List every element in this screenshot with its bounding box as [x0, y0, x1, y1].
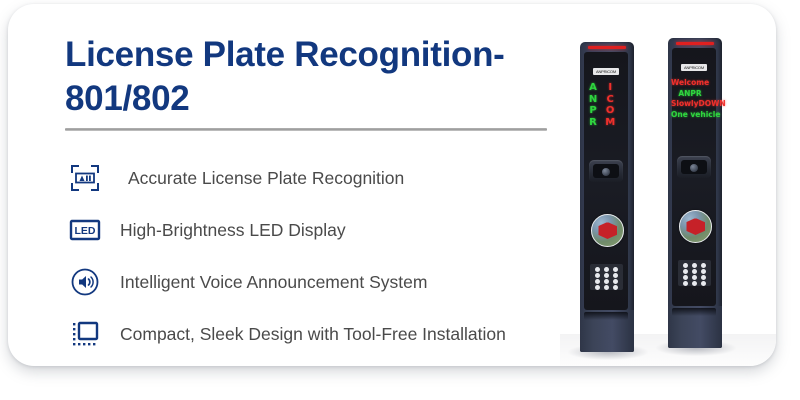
product-photo: ANPRICOM A N P R I C O M: [560, 4, 776, 366]
anpr-kiosk-802: ANPRICOM Welcome ANPR SlowlyDOWN One veh…: [668, 38, 722, 348]
led-display: Welcome ANPR SlowlyDOWN One vehicle: [671, 78, 709, 120]
speaker-grille: [678, 260, 711, 286]
grille-hole: [595, 279, 600, 284]
promo-banner: License Plate Recognition-801/802: [0, 0, 800, 400]
grille-hole: [604, 279, 609, 284]
grille-hole: [595, 267, 600, 272]
camera-module: [589, 160, 623, 182]
camera-module: [677, 156, 711, 178]
sticker-hex-badge: [686, 218, 705, 235]
top-led-strip: [588, 46, 626, 49]
led-char: I: [605, 82, 615, 94]
title-divider: [65, 128, 547, 131]
page-title: License Plate Recognition-801/802: [65, 33, 565, 121]
feature-label: Accurate License Plate Recognition: [128, 167, 404, 189]
certification-sticker: [679, 210, 712, 243]
grille-hole: [701, 269, 706, 274]
list-item: Compact, Sleek Design with Tool-Free Ins…: [62, 308, 572, 360]
grille-hole: [595, 285, 600, 290]
led-display: A N P R I C O M: [583, 82, 621, 128]
grille-hole: [692, 269, 697, 274]
grille-hole: [613, 279, 618, 284]
certification-sticker: [591, 214, 624, 247]
grille-hole: [683, 263, 688, 268]
led-char: C: [605, 94, 615, 106]
led-line: Welcome: [671, 78, 709, 89]
anpr-kiosk-801: ANPRICOM A N P R I C O M: [580, 42, 634, 352]
led-char: P: [589, 105, 597, 117]
grille-hole: [613, 273, 618, 278]
led-line: SlowlyDOWN: [671, 99, 709, 110]
grille-hole: [683, 275, 688, 280]
top-led-strip: [676, 42, 714, 45]
grille-hole: [613, 267, 618, 272]
feature-label: Compact, Sleek Design with Tool-Free Ins…: [120, 323, 506, 345]
led-char: N: [589, 94, 597, 106]
grille-hole: [595, 273, 600, 278]
feature-label: Intelligent Voice Announcement System: [120, 271, 427, 293]
led-char: M: [605, 117, 615, 129]
grille-hole: [604, 267, 609, 272]
compact-design-icon: [62, 314, 108, 354]
led-display-icon: LED: [62, 210, 108, 250]
led-column-icom: I C O M: [605, 82, 615, 128]
led-line: One vehicle: [671, 110, 709, 121]
led-char: A: [589, 82, 597, 94]
led-badge-text: LED: [75, 225, 96, 237]
brand-badge: ANPRICOM: [681, 64, 707, 71]
grille-hole: [613, 285, 618, 290]
kiosk-base: [668, 306, 722, 348]
camera-lens-icon: [602, 168, 610, 176]
base-sheen: [584, 312, 628, 320]
grille-hole: [701, 263, 706, 268]
list-item: LED High-Brightness LED Display: [62, 204, 572, 256]
grille-hole: [683, 269, 688, 274]
camera-window: [681, 160, 707, 174]
voice-speaker-icon: [62, 262, 108, 302]
grille-hole: [692, 275, 697, 280]
brand-badge: ANPRICOM: [593, 68, 619, 75]
led-column-anpr: A N P R: [589, 82, 597, 128]
plate-scan-icon: [62, 158, 108, 198]
grille-hole: [604, 285, 609, 290]
list-item: Accurate License Plate Recognition: [62, 152, 572, 204]
led-char: R: [589, 117, 597, 129]
led-line: ANPR: [671, 89, 709, 100]
grille-hole: [701, 275, 706, 280]
grille-hole: [683, 281, 688, 286]
list-item: Intelligent Voice Announcement System: [62, 256, 572, 308]
camera-window: [593, 164, 619, 178]
grille-hole: [692, 281, 697, 286]
grille-hole: [701, 281, 706, 286]
camera-lens-icon: [690, 164, 698, 172]
led-char: O: [605, 105, 615, 117]
feature-list: Accurate License Plate Recognition LED H…: [62, 152, 572, 360]
feature-label: High-Brightness LED Display: [120, 219, 346, 241]
grille-hole: [692, 263, 697, 268]
base-sheen: [672, 308, 716, 316]
sticker-hex-badge: [598, 222, 617, 239]
speaker-grille: [590, 264, 623, 290]
grille-hole: [604, 273, 609, 278]
kiosk-base: [580, 310, 634, 352]
